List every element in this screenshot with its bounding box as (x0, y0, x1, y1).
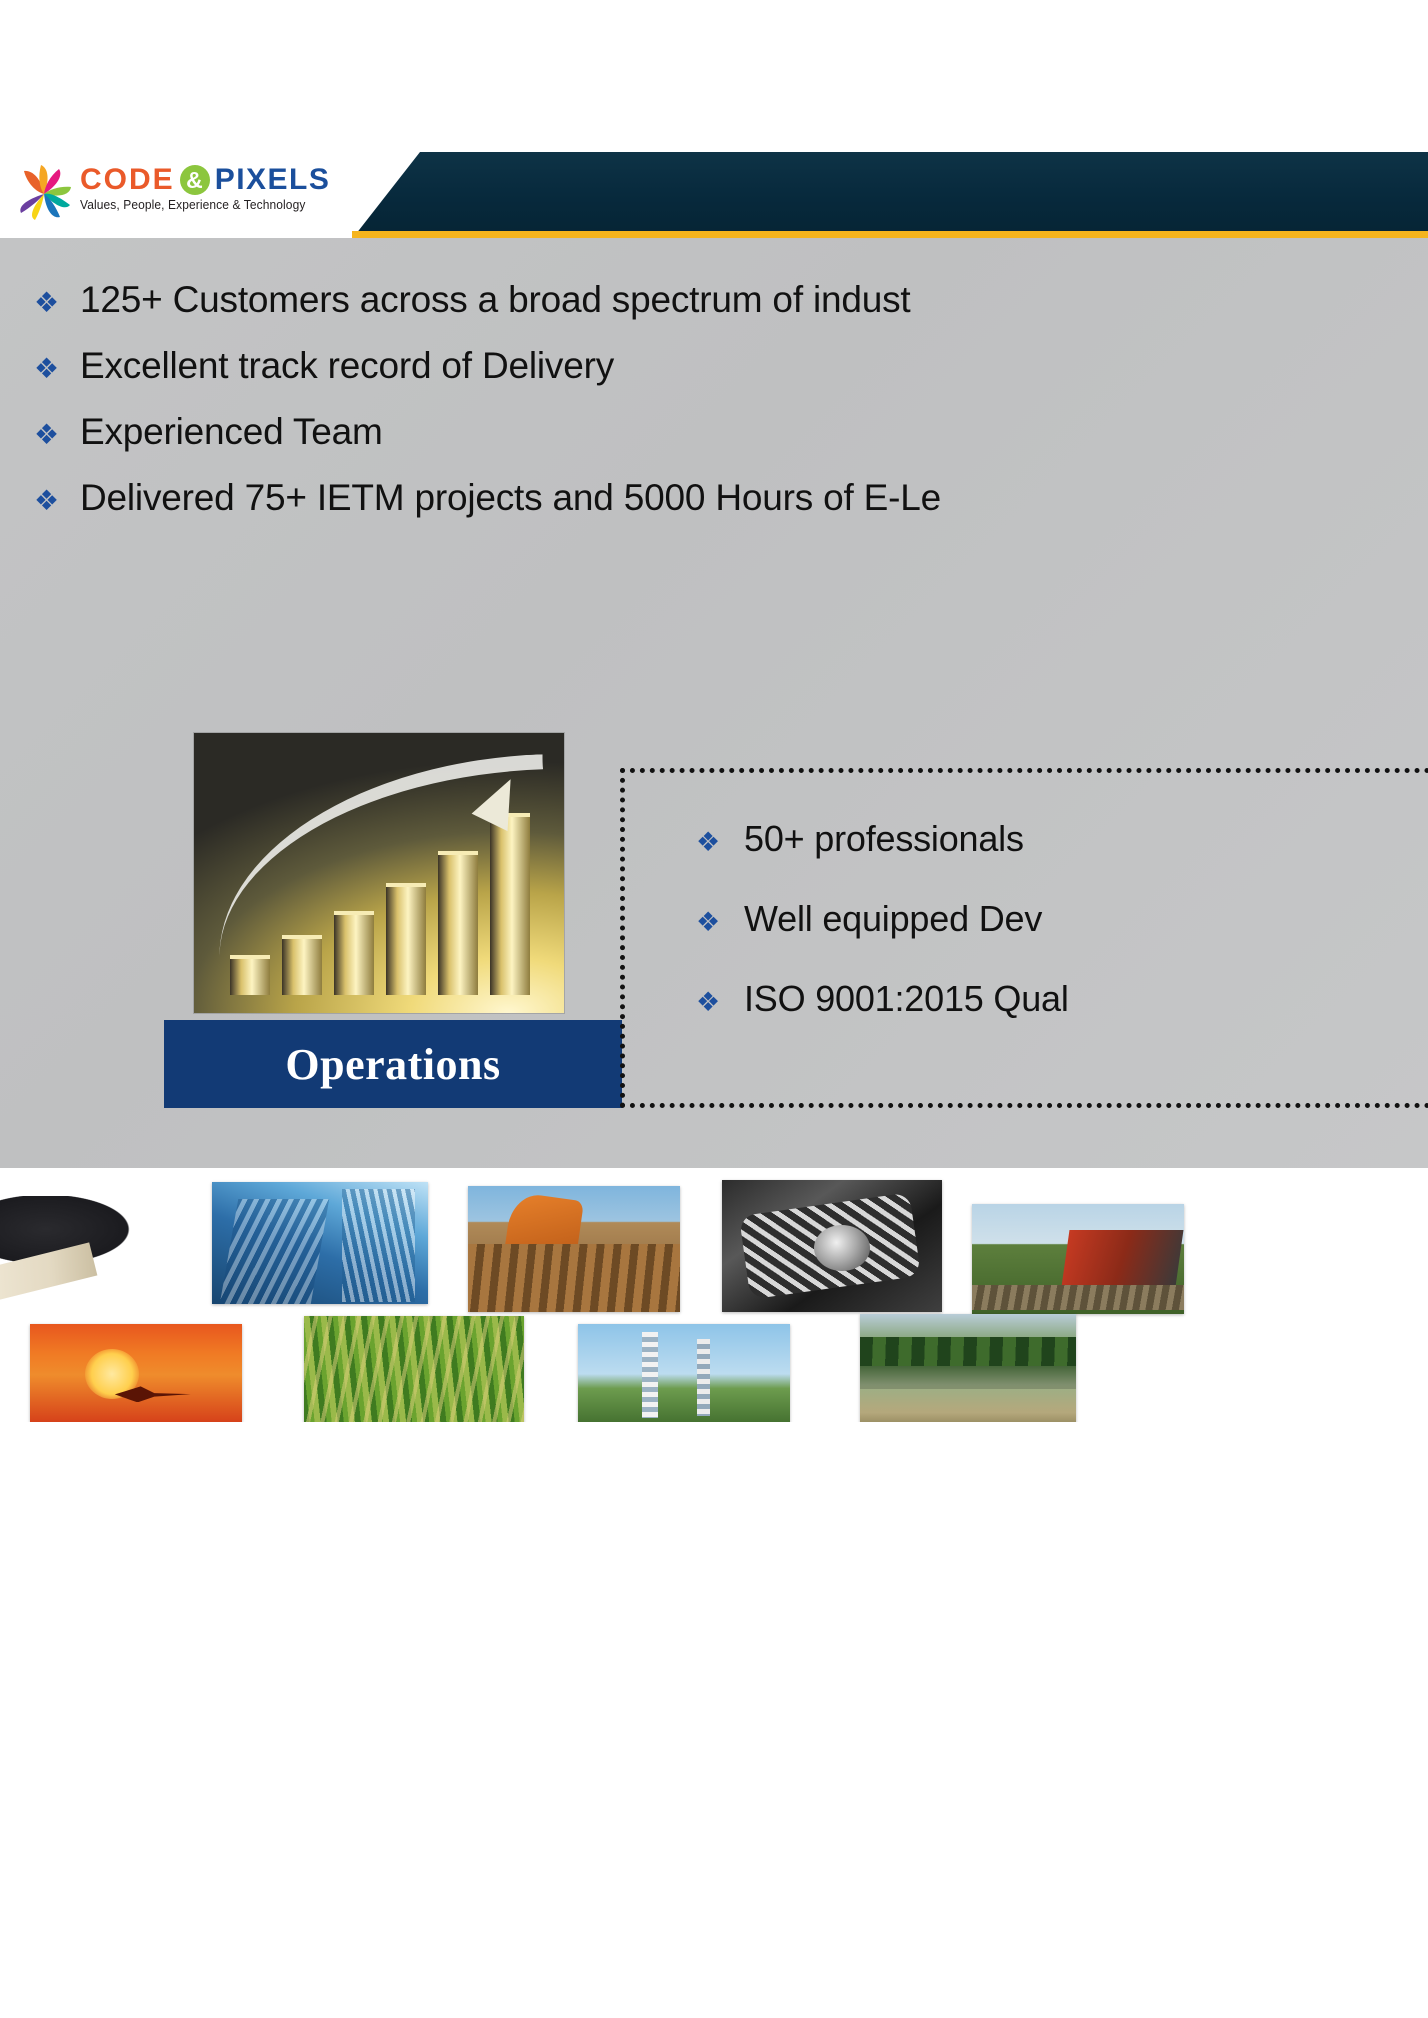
list-item: ❖ 50+ professionals (696, 818, 1069, 860)
diamond-bullet-icon: ❖ (696, 989, 744, 1016)
main-bullet-list: ❖ 125+ Customers across a broad spectrum… (34, 280, 1428, 544)
diamond-bullet-icon: ❖ (34, 487, 80, 515)
presentation-slide: CODE & PIXELS Values, People, Experience… (0, 152, 1428, 1422)
list-item-label: 50+ professionals (744, 818, 1024, 860)
logo-word-code: CODE (80, 165, 175, 195)
list-item: ❖ Delivered 75+ IETM projects and 5000 H… (34, 478, 1428, 518)
pinwheel-logo-icon (14, 163, 74, 223)
side-bullet-list: ❖ 50+ professionals ❖ Well equipped Dev … (696, 818, 1069, 1058)
photo-green-crop-field (304, 1316, 524, 1422)
list-item: ❖ 125+ Customers across a broad spectrum… (34, 280, 1428, 320)
list-item-label: Well equipped Dev (744, 898, 1042, 940)
list-item: ❖ ISO 9001:2015 Qual (696, 978, 1069, 1020)
list-item-label: Excellent track record of Delivery (80, 346, 614, 386)
diamond-bullet-icon: ❖ (696, 909, 744, 936)
photo-railway-train-track (972, 1204, 1184, 1314)
diamond-bullet-icon: ❖ (34, 289, 80, 317)
photo-industrial-machinery-gears (722, 1180, 942, 1312)
slide-header: CODE & PIXELS Values, People, Experience… (0, 152, 1428, 238)
header-gold-rule-gap (0, 231, 352, 238)
list-item-label: Experienced Team (80, 412, 383, 452)
logo-wordmark: CODE & PIXELS (80, 165, 330, 195)
slide-body: ❖ 125+ Customers across a broad spectrum… (0, 238, 1428, 1168)
operations-caption-banner: Operations (164, 1020, 622, 1108)
photo-lake-landscape (860, 1314, 1076, 1422)
list-item-label: 125+ Customers across a broad spectrum o… (80, 280, 911, 320)
photo-construction-worker-rebar (468, 1186, 680, 1312)
company-logo[interactable]: CODE & PIXELS Values, People, Experience… (14, 161, 414, 231)
rising-arrow-icon (213, 754, 550, 960)
diamond-bullet-icon: ❖ (696, 829, 744, 856)
photo-telecom-tower (578, 1324, 790, 1422)
logo-ampersand-badge: & (180, 165, 210, 195)
list-item-label: ISO 9001:2015 Qual (744, 978, 1069, 1020)
operations-caption-label: Operations (285, 1039, 500, 1090)
diamond-bullet-icon: ❖ (34, 421, 80, 449)
list-item: ❖ Experienced Team (34, 412, 1428, 452)
photo-graduation-cap-and-diploma (0, 1196, 174, 1300)
logo-tagline: Values, People, Experience & Technology (80, 198, 320, 212)
logo-word-pixels: PIXELS (215, 165, 331, 195)
list-item: ❖ Well equipped Dev (696, 898, 1069, 940)
list-item-label: Delivered 75+ IETM projects and 5000 Hou… (80, 478, 941, 518)
diamond-bullet-icon: ❖ (34, 355, 80, 383)
list-item: ❖ Excellent track record of Delivery (34, 346, 1428, 386)
industry-photo-strip (0, 1168, 1428, 1422)
photo-blue-glass-buildings (212, 1182, 428, 1304)
growth-chart-image (194, 733, 564, 1013)
photo-sunset-aircraft-silhouette (30, 1324, 242, 1422)
